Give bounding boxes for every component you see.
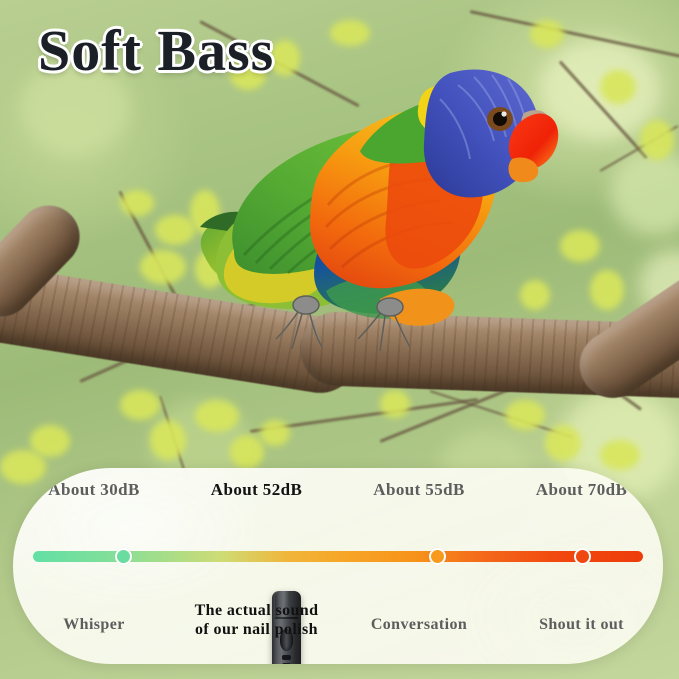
db-label-3: About 70dB <box>500 480 663 500</box>
blossom <box>0 450 46 484</box>
blossom <box>560 230 600 262</box>
blossom <box>600 70 636 104</box>
blossom <box>590 270 624 310</box>
blossom <box>230 435 264 469</box>
device-button-secondary <box>282 663 291 664</box>
caption-label-2: Conversation <box>338 616 500 635</box>
caption-label-0: Whisper <box>13 616 175 635</box>
blossom <box>155 215 195 245</box>
decibel-labels-row: About 30dB About 52dB About 55dB About 7… <box>13 480 663 500</box>
rainbow-lorikeet <box>200 55 560 355</box>
caption-col-2: Conversation <box>338 602 500 640</box>
blossom <box>195 400 239 432</box>
blossom <box>140 250 186 284</box>
caption-label-1-line2: of our nail polish <box>175 621 338 640</box>
product-infographic: Soft Bass About 30dB About 52dB About 55… <box>0 0 679 679</box>
scale-col-2: About 55dB <box>338 480 500 500</box>
scale-marker-0[interactable] <box>115 548 132 565</box>
blossom <box>150 420 186 460</box>
db-label-2: About 55dB <box>338 480 500 500</box>
device-button <box>282 655 291 660</box>
blossom <box>260 420 290 446</box>
caption-labels-row: Whisper The actual sound of our nail pol… <box>13 602 663 640</box>
caption-label-1-line1: The actual sound <box>175 602 338 621</box>
blossom <box>545 425 581 461</box>
blossom <box>330 20 370 46</box>
blossom <box>120 390 160 420</box>
caption-label-3: Shout it out <box>500 616 663 635</box>
caption-col-0: Whisper <box>13 602 175 640</box>
bird-eye-highlight <box>501 111 506 116</box>
scale-col-1: About 52dB <box>175 480 338 500</box>
scale-marker-2[interactable] <box>429 548 446 565</box>
blossom <box>600 440 640 470</box>
db-label-1: About 52dB <box>175 480 338 500</box>
blossom <box>380 390 410 418</box>
scale-col-0: About 30dB <box>13 480 175 500</box>
caption-col-1: The actual sound of our nail polish <box>175 602 338 640</box>
page-title: Soft Bass <box>38 22 274 80</box>
blossom <box>120 190 154 216</box>
caption-col-3: Shout it out <box>500 602 663 640</box>
db-label-0: About 30dB <box>13 480 175 500</box>
scale-col-3: About 70dB <box>500 480 663 500</box>
loudness-slider[interactable] <box>33 551 643 563</box>
decibel-scale-panel: About 30dB About 52dB About 55dB About 7… <box>13 468 663 664</box>
blossom <box>640 120 674 160</box>
blossom <box>530 20 564 48</box>
scale-marker-3[interactable] <box>574 548 591 565</box>
blossom <box>505 400 545 430</box>
